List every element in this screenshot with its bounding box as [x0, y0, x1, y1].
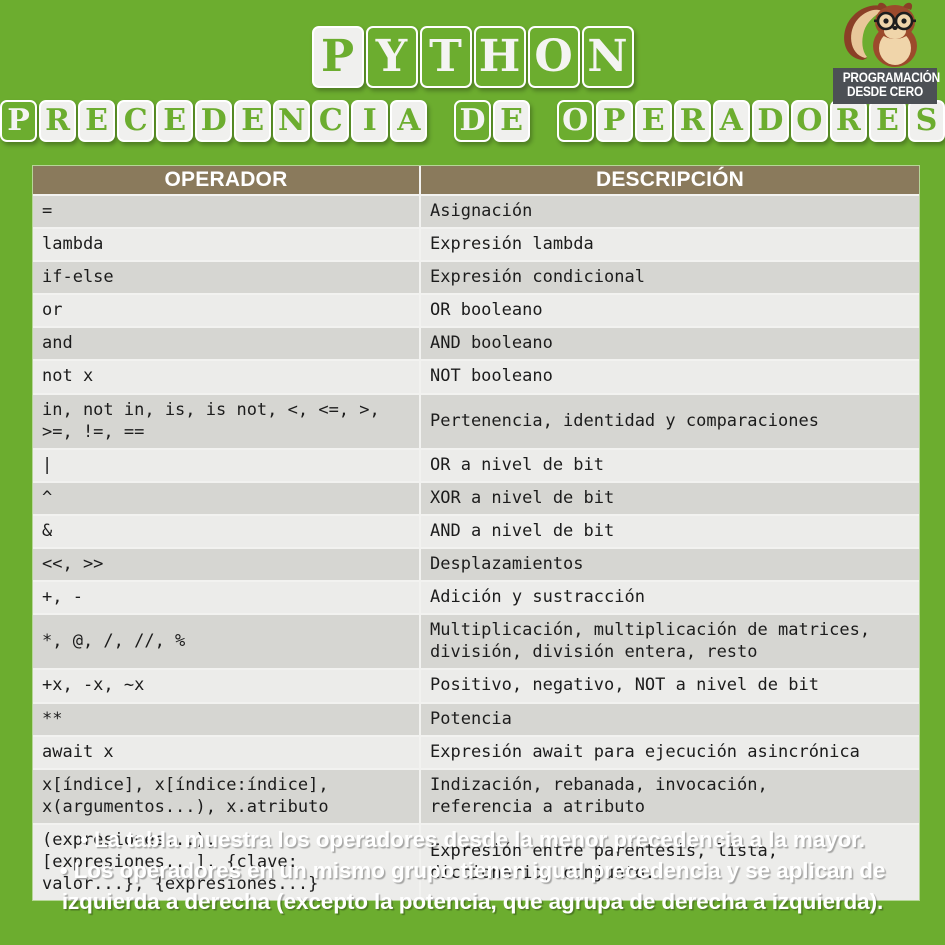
table-row: await xExpresión await para ejecución as… [33, 736, 919, 769]
column-header-descripcion: DESCRIPCIÓN [420, 166, 919, 195]
title-subtitle-letter-tile: R [39, 100, 76, 142]
cell-descripcion: Multiplicación, multiplicación de matric… [420, 614, 919, 669]
cell-descripcion: AND booleano [420, 327, 919, 360]
title-subtitle-letter-tile: R [674, 100, 711, 142]
cell-operador: ** [33, 703, 420, 736]
cell-descripcion: Asignación [420, 195, 919, 228]
squirrel-with-glasses-icon [833, 0, 937, 68]
cell-operador: <<, >> [33, 548, 420, 581]
table-row: in, not in, is, is not, <, <=, >, >=, !=… [33, 394, 919, 449]
cell-descripcion: Adición y sustracción [420, 581, 919, 614]
title-subtitle-letter-tile: C [117, 100, 154, 142]
title-precedencia-de-operadores: PRECEDENCIADEOPERADORES [0, 100, 945, 142]
cell-operador: in, not in, is, is not, <, <=, >, >=, !=… [33, 394, 420, 449]
table-row: +, -Adición y sustracción [33, 581, 919, 614]
cell-operador: lambda [33, 228, 420, 261]
cell-operador: *, @, /, //, % [33, 614, 420, 669]
table-body: =AsignaciónlambdaExpresión lambdaif-else… [33, 195, 919, 900]
cell-descripcion: Desplazamientos [420, 548, 919, 581]
brand-logo: PROGRAMACIÓN DESDE CERO [833, 0, 937, 104]
table-row: =Asignación [33, 195, 919, 228]
title-python-letter-tile: T [420, 26, 472, 88]
cell-descripcion: AND a nivel de bit [420, 515, 919, 548]
cell-operador: x[índice], x[índice:índice], x(argumento… [33, 769, 420, 824]
title-subtitle-letter-tile: S [908, 100, 945, 142]
cell-operador: or [33, 294, 420, 327]
title-subtitle-letter-tile: D [752, 100, 789, 142]
title-subtitle-letter-tile: C [312, 100, 349, 142]
title-subtitle-letter-tile: E [635, 100, 672, 142]
column-header-operador: OPERADOR [33, 166, 420, 195]
cell-operador: await x [33, 736, 420, 769]
cell-operador: if-else [33, 261, 420, 294]
title-python-letter-tile: N [582, 26, 634, 88]
title-subtitle-letter-tile: E [156, 100, 193, 142]
brand-name-plate: PROGRAMACIÓN DESDE CERO [833, 68, 937, 104]
cell-descripcion: Indización, rebanada, invocación, refere… [420, 769, 919, 824]
table-row: not xNOT booleano [33, 360, 919, 393]
cell-descripcion: Expresión lambda [420, 228, 919, 261]
brand-name-line1: PROGRAMACIÓN [843, 71, 927, 85]
cell-operador: | [33, 449, 420, 482]
brand-name-line2: DESDE CERO [843, 85, 927, 99]
title-subtitle-letter-tile: I [351, 100, 388, 142]
cell-descripcion: NOT booleano [420, 360, 919, 393]
footer-notes: • La tabla muestra los operadores desde … [0, 824, 945, 917]
title-subtitle-letter-tile: E [234, 100, 271, 142]
title-subtitle-letter-tile: P [0, 100, 37, 142]
table-row: +x, -x, ~xPositivo, negativo, NOT a nive… [33, 669, 919, 702]
table-row: if-elseExpresión condicional [33, 261, 919, 294]
table-row: orOR booleano [33, 294, 919, 327]
title-subtitle-letter-tile: O [557, 100, 594, 142]
table-row: |OR a nivel de bit [33, 449, 919, 482]
cell-descripcion: XOR a nivel de bit [420, 482, 919, 515]
title-subtitle-letter-tile: R [830, 100, 867, 142]
table-row: <<, >>Desplazamientos [33, 548, 919, 581]
title-subtitle-letter-tile: E [493, 100, 530, 142]
table-row: &AND a nivel de bit [33, 515, 919, 548]
cell-operador: and [33, 327, 420, 360]
cell-descripcion: Expresión await para ejecución asincróni… [420, 736, 919, 769]
table-row: lambdaExpresión lambda [33, 228, 919, 261]
title-subtitle-letter-tile: E [869, 100, 906, 142]
title-subtitle-letter-tile: A [390, 100, 427, 142]
cell-operador: +x, -x, ~x [33, 669, 420, 702]
cell-descripcion: OR a nivel de bit [420, 449, 919, 482]
cell-operador: ^ [33, 482, 420, 515]
cell-descripcion: Pertenencia, identidad y comparaciones [420, 394, 919, 449]
title-subtitle-letter-tile: P [596, 100, 633, 142]
title-subtitle-letter-tile: D [195, 100, 232, 142]
table-row: ^XOR a nivel de bit [33, 482, 919, 515]
cell-operador: +, - [33, 581, 420, 614]
table-row: *, @, /, //, %Multiplicación, multiplica… [33, 614, 919, 669]
footer-note-2: • Los operadores en un mismo grupo tiene… [22, 855, 923, 917]
table-row: andAND booleano [33, 327, 919, 360]
table-row: **Potencia [33, 703, 919, 736]
table-row: x[índice], x[índice:índice], x(argumento… [33, 769, 919, 824]
title-python: PYTHON [0, 26, 945, 88]
cell-descripcion: Positivo, negativo, NOT a nivel de bit [420, 669, 919, 702]
cell-operador: = [33, 195, 420, 228]
title-subtitle-letter-tile: O [791, 100, 828, 142]
title-python-letter-tile: P [312, 26, 364, 88]
cell-operador: & [33, 515, 420, 548]
title-python-letter-tile: H [474, 26, 526, 88]
operator-precedence-table: OPERADOR DESCRIPCIÓN =AsignaciónlambdaEx… [33, 166, 919, 900]
operator-precedence-table-wrapper: OPERADOR DESCRIPCIÓN =AsignaciónlambdaEx… [33, 166, 919, 900]
table-header-row: OPERADOR DESCRIPCIÓN [33, 166, 919, 195]
cell-descripcion: Potencia [420, 703, 919, 736]
cell-operador: not x [33, 360, 420, 393]
title-subtitle-letter-tile: A [713, 100, 750, 142]
title-subtitle-letter-tile: D [454, 100, 491, 142]
cell-descripcion: OR booleano [420, 294, 919, 327]
title-python-letter-tile: O [528, 26, 580, 88]
footer-note-1: • La tabla muestra los operadores desde … [22, 824, 923, 855]
title-python-letter-tile: Y [366, 26, 418, 88]
cell-descripcion: Expresión condicional [420, 261, 919, 294]
title-subtitle-letter-tile: E [78, 100, 115, 142]
title-subtitle-letter-tile: N [273, 100, 310, 142]
